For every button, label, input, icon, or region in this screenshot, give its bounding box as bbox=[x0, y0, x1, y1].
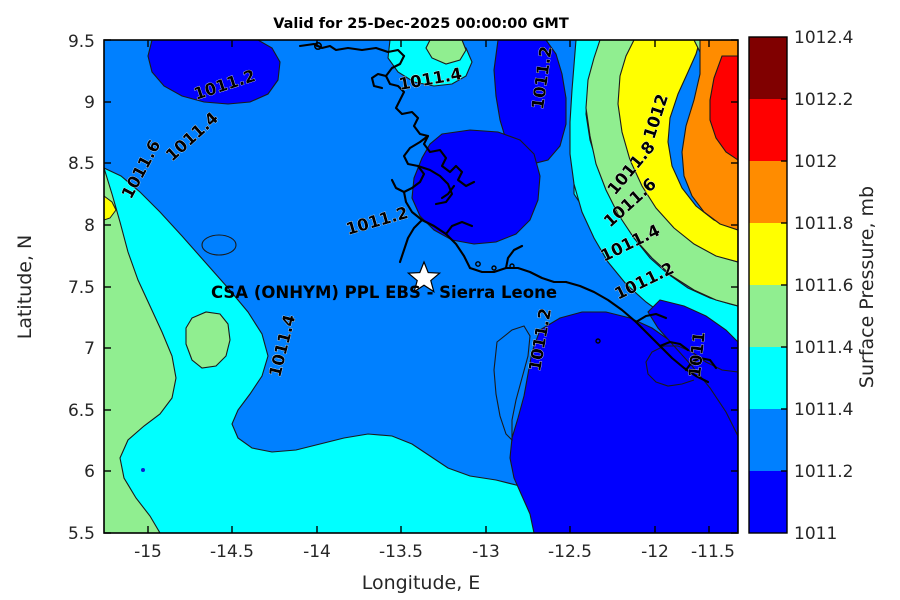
colorbar-tick-label: 1012.2 bbox=[794, 90, 853, 110]
y-tick-label: 9.5 bbox=[68, 32, 95, 52]
x-tick-label: -12.5 bbox=[548, 542, 592, 562]
contour-figure: Valid for 25-Dec-2025 00:00:00 GMT bbox=[0, 0, 900, 600]
x-tick-label: -14.5 bbox=[210, 542, 254, 562]
colorbar-tick-label: 1011.4 bbox=[794, 400, 853, 420]
colorbar-tick-label: 1011 bbox=[794, 524, 837, 544]
colorbar-band-1011 bbox=[749, 471, 787, 533]
x-tick-label: -11.5 bbox=[691, 542, 735, 562]
colorbar-tick-label: 1012.4 bbox=[794, 28, 853, 48]
x-tick-label: -14 bbox=[303, 542, 331, 562]
x-tick-label: -12 bbox=[641, 542, 669, 562]
figure-title: Valid for 25-Dec-2025 00:00:00 GMT bbox=[273, 16, 569, 32]
x-axis-title: Longitude, E bbox=[362, 572, 481, 594]
y-tick-label: 7 bbox=[84, 339, 95, 359]
contour-lobe-blue-center bbox=[412, 130, 540, 244]
colorbar-band-1011_4 bbox=[749, 347, 787, 409]
colorbar-tick-label: 1011.6 bbox=[794, 276, 853, 296]
y-tick-label: 8 bbox=[84, 216, 95, 236]
colorbar-band-1012_2 bbox=[749, 99, 787, 161]
colorbar-tick-label-1011_4: 1011.4 bbox=[794, 338, 853, 358]
colorbar-band-1011_8 bbox=[749, 223, 787, 285]
colorbar-tick-label: 1012 bbox=[794, 152, 837, 172]
map-contour-area: 1011.2 1011.4 1011.6 1011.4 1011.2 1011.… bbox=[104, 40, 738, 533]
y-tick-label: 6 bbox=[84, 462, 95, 482]
colorbar-band-1011_2 bbox=[749, 409, 787, 471]
colorbar-tick-label: 1011.2 bbox=[794, 462, 853, 482]
colorbar-band-1011_6 bbox=[749, 285, 787, 347]
x-tick-label: -13.5 bbox=[379, 542, 423, 562]
x-tick-label: -15 bbox=[134, 542, 162, 562]
figure-root: Valid for 25-Dec-2025 00:00:00 GMT bbox=[0, 0, 900, 600]
y-tick-label: 6.5 bbox=[68, 401, 95, 421]
y-axis-title: Latitude, N bbox=[14, 235, 36, 340]
colorbar-tick-labels: 1011 1011.2 1011.4 1011.6 1011.8 1012 10… bbox=[794, 28, 853, 544]
site-label: CSA (ONHYM) PPL EBS - Sierra Leone bbox=[211, 283, 557, 302]
y-tick-label: 7.5 bbox=[68, 278, 95, 298]
y-tick-label: 9 bbox=[84, 93, 95, 113]
y-tick-label: 5.5 bbox=[68, 524, 95, 544]
colorbar-tick-label: 1011.8 bbox=[794, 214, 853, 234]
x-tick-label: -13 bbox=[472, 542, 500, 562]
contour-patch-blue-island bbox=[202, 235, 236, 255]
contour-point-marker bbox=[141, 468, 145, 472]
colorbar-band-1012_4 bbox=[749, 37, 787, 99]
y-tick-label: 8.5 bbox=[68, 154, 95, 174]
colorbar-title: Surface Pressure, mb bbox=[856, 186, 878, 388]
colorbar-band-1012 bbox=[749, 161, 787, 223]
